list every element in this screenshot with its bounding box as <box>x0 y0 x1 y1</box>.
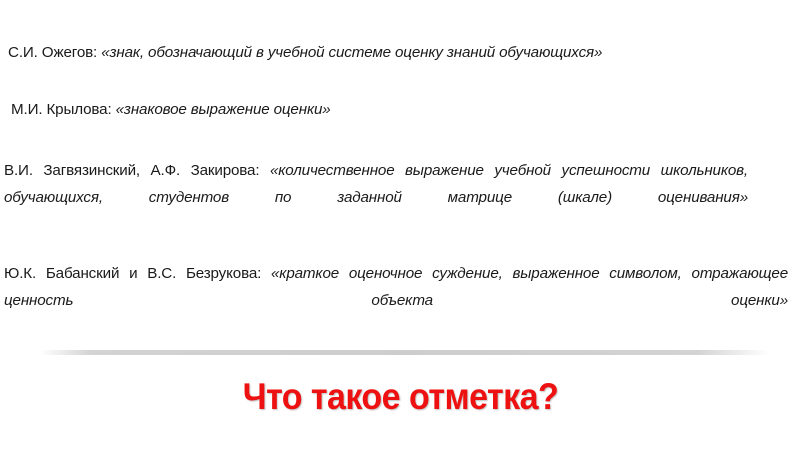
title-container: Что такое отметка? <box>0 376 800 418</box>
slide-canvas: С.И. Ожегов: «знак, обозначающий в учебн… <box>0 0 800 450</box>
definition-author: С.И. Ожегов: <box>8 44 97 61</box>
definition-author: Ю.К. Бабанский и В.С. Безрукова: <box>4 265 261 282</box>
horizontal-divider <box>40 350 770 355</box>
definition-quote: «знак, обозначающий в учебной системе оц… <box>101 44 602 61</box>
definition-author: В.И. Загвязинский, А.Ф. Закирова: <box>4 162 259 179</box>
page-title: Что такое отметка? <box>242 376 558 418</box>
definition-item: В.И. Загвязинский, А.Ф. Закирова: «колич… <box>4 157 748 238</box>
definition-item: Ю.К. Бабанский и В.С. Безрукова: «кратко… <box>4 260 788 341</box>
definition-item: М.И. Крылова: «знаковое выражение оценки… <box>11 96 711 123</box>
definition-author: М.И. Крылова: <box>11 101 112 118</box>
definition-quote: «знаковое выражение оценки» <box>116 101 331 118</box>
definition-item: С.И. Ожегов: «знак, обозначающий в учебн… <box>8 39 750 66</box>
